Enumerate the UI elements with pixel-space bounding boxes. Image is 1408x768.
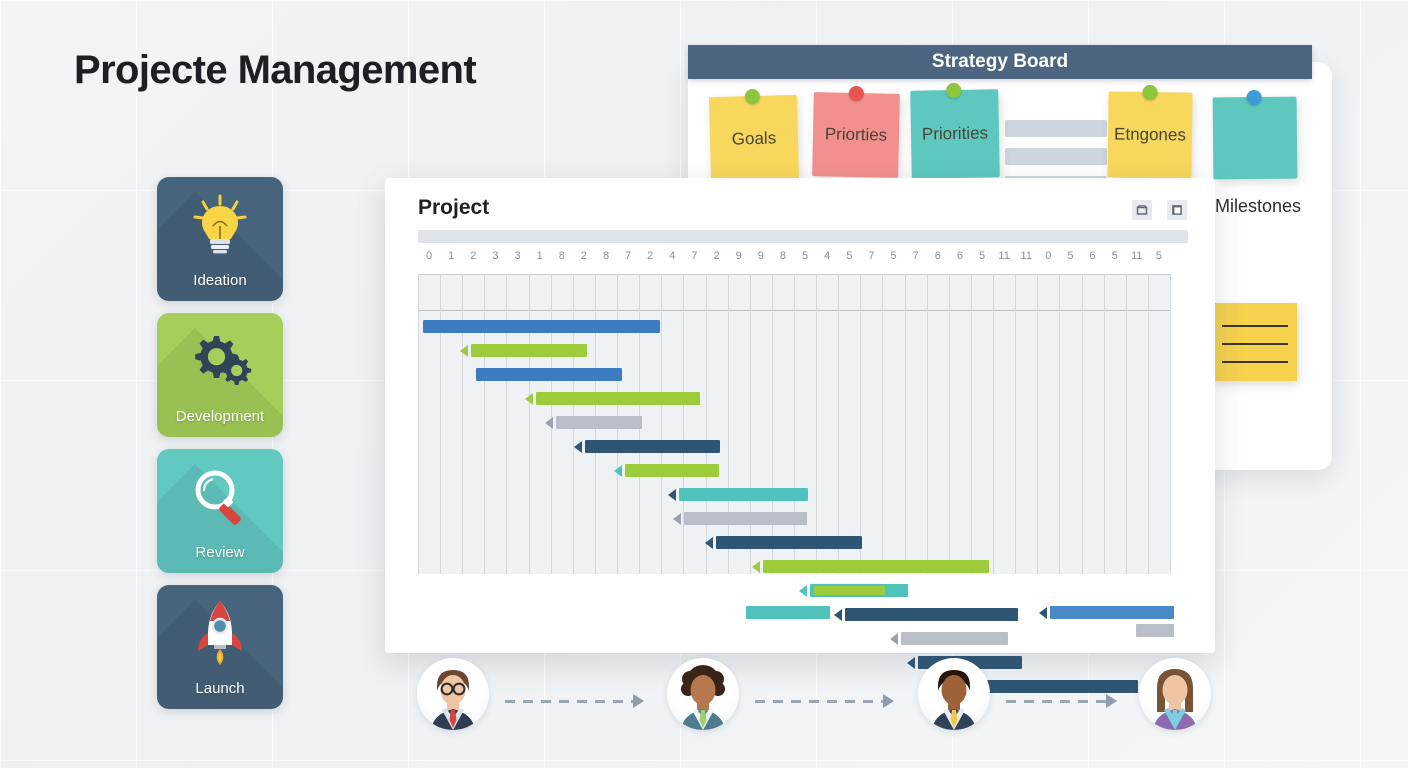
dependency-arrow [799, 585, 807, 597]
gantt-task-bar[interactable] [763, 560, 989, 573]
gantt-task-bar[interactable] [625, 464, 719, 477]
plot-gridline [706, 274, 707, 574]
sticky-note-pin [1142, 85, 1157, 100]
timeline-tick: 7 [868, 250, 874, 262]
dependency-arrow [673, 513, 681, 525]
timeline-tick: 11 [1021, 250, 1032, 262]
plot-gridline [1104, 274, 1105, 574]
timeline-tick: 7 [691, 250, 697, 262]
gantt-task-bar[interactable] [716, 536, 862, 549]
timeline-tick: 0 [1045, 250, 1051, 262]
plot-gridline [728, 274, 729, 574]
sticky-note-priorities[interactable]: Priorities [910, 89, 1000, 179]
note-rule [1222, 361, 1288, 363]
horizontal-scrollbar[interactable] [418, 230, 1188, 243]
flow-connector [1006, 700, 1106, 703]
timeline-tick: 11 [1131, 250, 1142, 262]
gantt-task-bar[interactable] [1050, 606, 1174, 619]
timeline-tick: 5 [1067, 250, 1073, 262]
phase-tile-ideation[interactable]: Ideation [157, 177, 283, 301]
timeline-tick-row: 0123318287247299854575766511110565115 [418, 250, 1170, 268]
phase-tile-label: Launch [157, 680, 283, 697]
board-placeholder-line [1005, 148, 1107, 165]
dependency-arrow [1039, 607, 1047, 619]
timeline-tick: 4 [824, 250, 830, 262]
timeline-tick: 6 [957, 250, 963, 262]
sticky-note-pin [946, 83, 961, 98]
plot-gridline [750, 274, 751, 574]
timeline-tick: 9 [736, 250, 742, 262]
gantt-task-bar[interactable] [476, 368, 622, 381]
maximize-window-icon[interactable] [1167, 200, 1187, 220]
strategy-board-title: Strategy Board [932, 51, 1068, 73]
plot-gridline [1170, 274, 1171, 574]
timeline-tick: 3 [514, 250, 520, 262]
plot-gridline [1126, 274, 1127, 574]
note-rule [1222, 343, 1288, 345]
avatar-person-1[interactable] [417, 658, 489, 730]
plot-gridline [1082, 274, 1083, 574]
gantt-task-bar[interactable] [684, 512, 807, 525]
plot-gridline [506, 274, 507, 574]
flow-connector [755, 700, 883, 703]
gantt-task-bar[interactable] [536, 392, 700, 405]
sticky-note-blank[interactable] [1213, 97, 1298, 180]
timeline-tick: 6 [1090, 250, 1096, 262]
dependency-arrow [525, 393, 533, 405]
dependency-arrow [614, 465, 622, 477]
dependency-arrow [907, 657, 915, 669]
timeline-tick: 7 [625, 250, 631, 262]
gears-icon [157, 323, 283, 397]
gantt-task-bar[interactable] [471, 344, 587, 357]
sticky-note-label: Etngones [1114, 124, 1186, 145]
flow-connector-arrow [883, 694, 894, 708]
gantt-chart-card: Project 01233182872472998545757665111105… [385, 178, 1215, 653]
timeline-tick: 5 [979, 250, 985, 262]
plot-gridline [794, 274, 795, 574]
gantt-task-bar[interactable] [1136, 624, 1174, 637]
phase-tile-development[interactable]: Development [157, 313, 283, 437]
sticky-note-pin [1246, 90, 1261, 105]
sticky-note-pin [849, 86, 864, 101]
flow-connector-arrow [1106, 694, 1117, 708]
timeline-tick: 2 [647, 250, 653, 262]
timeline-tick: 8 [559, 250, 565, 262]
dependency-arrow [545, 417, 553, 429]
note-rule [1222, 325, 1288, 327]
timeline-tick: 1 [448, 250, 454, 262]
timeline-tick: 1 [537, 250, 543, 262]
board-placeholder-line [1005, 120, 1107, 137]
timeline-tick: 5 [890, 250, 896, 262]
phase-tile-review[interactable]: Review [157, 449, 283, 573]
avatar-person-3[interactable] [918, 658, 990, 730]
plot-gridline [484, 274, 485, 574]
app-canvas: Projecte Management Ideation Development [0, 0, 1408, 768]
phase-tile-label: Review [157, 544, 283, 561]
timeline-tick: 8 [780, 250, 786, 262]
timeline-tick: 2 [581, 250, 587, 262]
timeline-tick: 3 [492, 250, 498, 262]
strategy-board-header: Strategy Board [688, 45, 1312, 79]
plot-gridline [949, 274, 950, 574]
plot-gridline [882, 274, 883, 574]
timeline-tick: 0 [426, 250, 432, 262]
timeline-tick: 11 [998, 250, 1009, 262]
dependency-arrow [574, 441, 582, 453]
plot-gridline [529, 274, 530, 574]
gantt-task-bar[interactable] [746, 606, 830, 619]
plot-gridline [1148, 274, 1149, 574]
sticky-note-etngones[interactable]: Etngones [1107, 91, 1192, 178]
gantt-task-bar[interactable] [585, 440, 720, 453]
gantt-plot-area[interactable] [418, 274, 1170, 574]
timeline-tick: 5 [1112, 250, 1118, 262]
dependency-arrow [705, 537, 713, 549]
plot-gridline [661, 274, 662, 574]
sticky-note-label: Goals [732, 128, 777, 149]
timeline-tick: 9 [758, 250, 764, 262]
plot-gridline [838, 274, 839, 574]
dependency-arrow [752, 561, 760, 573]
timeline-tick: 4 [669, 250, 675, 262]
milestones-label: Milestones [1215, 196, 1301, 217]
plot-gridline [860, 274, 861, 574]
timeline-tick: 5 [846, 250, 852, 262]
plot-gridline [993, 274, 994, 574]
gantt-task-bar[interactable] [810, 584, 908, 597]
gantt-task-bar[interactable] [423, 320, 660, 333]
plot-gridline [927, 274, 928, 574]
gantt-task-bar[interactable] [901, 632, 1008, 645]
plot-gridline [772, 274, 773, 574]
dependency-arrow [460, 345, 468, 357]
plot-gridline [1015, 274, 1016, 574]
lightbulb-icon [157, 187, 283, 261]
flow-connector-arrow [633, 694, 644, 708]
rocket-icon [157, 595, 283, 669]
dependency-arrow [890, 633, 898, 645]
gantt-task-bar[interactable] [556, 416, 642, 429]
plot-gridline [462, 274, 463, 574]
gantt-task-bar[interactable] [985, 680, 1138, 693]
milestone-note[interactable] [1213, 303, 1297, 381]
plot-gridline [418, 274, 419, 574]
plot-gridline [816, 274, 817, 574]
sticky-note-priorties[interactable]: Priorties [812, 92, 900, 178]
dependency-arrow [834, 609, 842, 621]
timeline-tick: 2 [470, 250, 476, 262]
plot-gridline [971, 274, 972, 574]
plot-gridline [905, 274, 906, 574]
dependency-arrow [668, 489, 676, 501]
gantt-task-bar[interactable] [679, 488, 808, 501]
plot-gridline [1037, 274, 1038, 574]
sticky-note-goals[interactable]: Goals [709, 95, 799, 183]
phase-tile-label: Development [157, 408, 283, 425]
timeline-tick: 6 [935, 250, 941, 262]
plot-gridline [1059, 274, 1060, 574]
magnifier-icon [157, 459, 283, 533]
avatar-person-4[interactable] [1139, 658, 1211, 730]
gantt-title: Project [418, 196, 489, 220]
page-title: Projecte Management [74, 48, 476, 93]
timeline-tick: 7 [913, 250, 919, 262]
sticky-note-label: Priorties [825, 124, 888, 145]
restore-window-icon[interactable] [1132, 200, 1152, 220]
phase-tile-launch[interactable]: Launch [157, 585, 283, 709]
timeline-tick: 5 [802, 250, 808, 262]
flow-connector [505, 700, 633, 703]
avatar-person-2[interactable] [667, 658, 739, 730]
timeline-tick: 2 [714, 250, 720, 262]
plot-gridline [683, 274, 684, 574]
timeline-tick: 5 [1156, 250, 1162, 262]
timeline-tick: 8 [603, 250, 609, 262]
sticky-note-pin [745, 89, 760, 104]
gantt-task-bar[interactable] [845, 608, 1018, 621]
gantt-task-progress [814, 586, 885, 595]
phase-tile-label: Ideation [157, 272, 283, 289]
plot-gridline [440, 274, 441, 574]
sticky-note-label: Priorities [922, 123, 988, 144]
